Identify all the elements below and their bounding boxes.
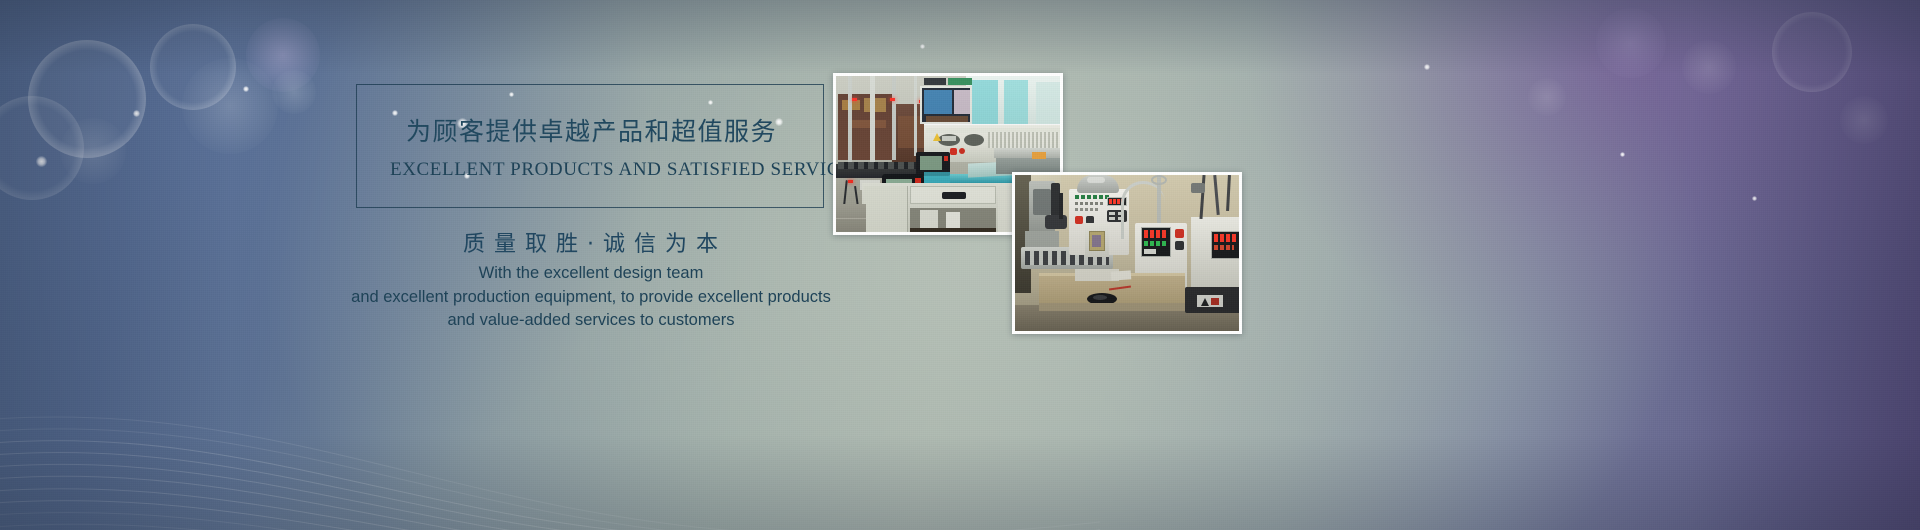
chinese-headline: 为顾客提供卓越产品和超值服务 <box>406 112 826 148</box>
bokeh-orb <box>272 70 316 114</box>
bokeh-orb <box>1682 40 1736 94</box>
bokeh-orb <box>1840 96 1888 144</box>
bokeh-orb <box>1528 78 1566 116</box>
chinese-tagline: 质 量 取 胜 · 诚 信 为 本 <box>356 226 826 258</box>
sparkle <box>243 86 249 92</box>
bokeh-orb <box>246 18 320 92</box>
bokeh-orb <box>182 58 278 154</box>
photo-lab-equipment-image <box>1015 175 1239 331</box>
bokeh-orb <box>1772 12 1852 92</box>
bokeh-orb <box>150 24 236 110</box>
slogan-banner: 为顾客提供卓越产品和超值服务 EXCELLENT PRODUCTS AND SA… <box>0 0 1920 530</box>
sparkle <box>133 110 140 117</box>
sparkle <box>1424 64 1430 70</box>
photo-lab-equipment <box>1012 172 1242 334</box>
paragraph-line-2: and excellent production equipment, to p… <box>300 286 882 310</box>
paragraph-line-1: With the excellent design team <box>300 262 882 286</box>
paragraph-line-3: and value-added services to customers <box>300 309 882 333</box>
bokeh-orb <box>0 96 84 200</box>
sparkle <box>36 156 47 167</box>
bokeh-orb <box>60 118 126 184</box>
sparkle <box>1620 152 1625 157</box>
sparkle <box>920 44 925 49</box>
english-paragraph: With the excellent design team and excel… <box>300 262 882 333</box>
sparkle <box>1752 196 1757 201</box>
english-subtitle: EXCELLENT PRODUCTS AND SATISFIED SERVICE <box>390 159 820 181</box>
bokeh-orb <box>1596 8 1666 78</box>
bokeh-orb <box>28 40 146 158</box>
